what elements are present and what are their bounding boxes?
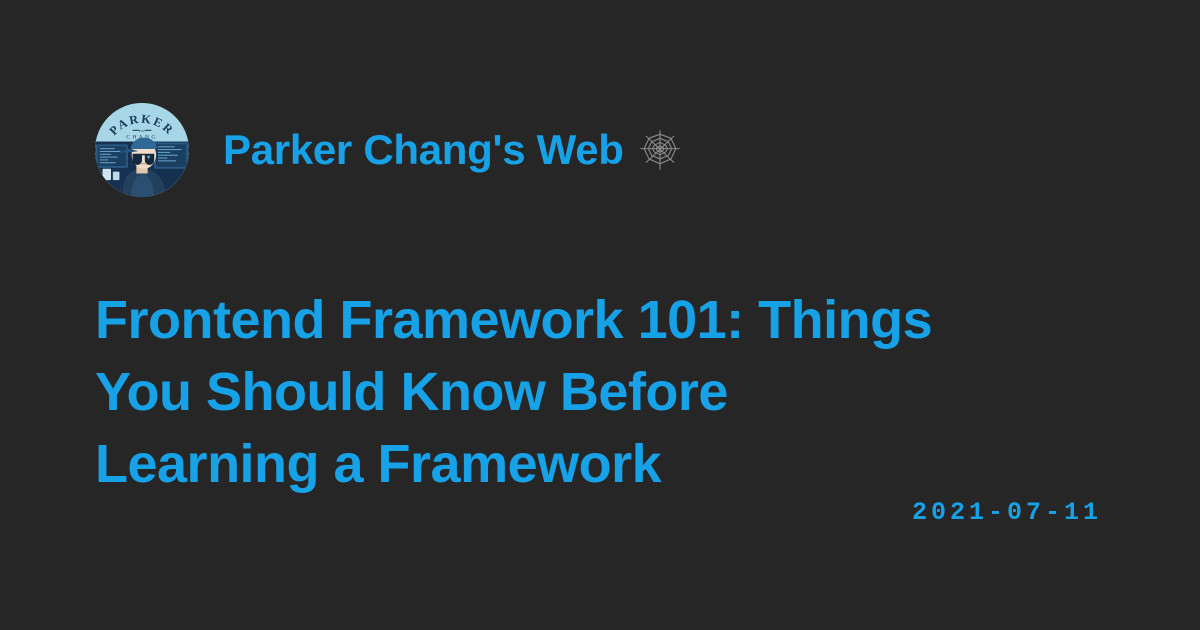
social-share-card: PARKER EST CHANG xyxy=(0,0,1200,630)
post-title-line-1: Frontend Framework 101: Things xyxy=(95,284,1095,356)
svg-text:EST: EST xyxy=(139,129,145,133)
site-title-text: Parker Chang's Web xyxy=(223,129,624,171)
site-header: PARKER EST CHANG xyxy=(95,103,682,197)
site-title[interactable]: Parker Chang's Web xyxy=(223,128,682,172)
post-date: 2021-07-11 xyxy=(912,500,1102,525)
post-title: Frontend Framework 101: Things You Shoul… xyxy=(95,284,1095,500)
parker-chang-avatar-icon[interactable]: PARKER EST CHANG xyxy=(95,103,189,197)
spider-web-icon xyxy=(638,128,682,172)
post-title-line-2: You Should Know Before xyxy=(95,356,1095,428)
post-title-line-3: Learning a Framework xyxy=(95,428,1095,500)
